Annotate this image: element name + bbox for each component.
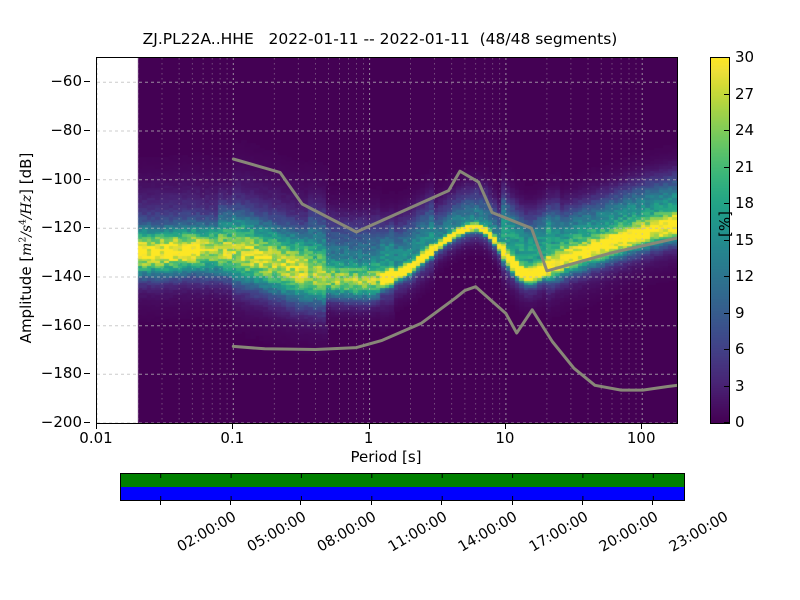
colorbar-tick-label: 9 [735, 304, 745, 322]
y-tick-label: −200 [41, 413, 82, 431]
colorbar-label: [%] [716, 157, 734, 237]
y-tick-mark [84, 130, 90, 131]
x-tick-label: 10 [495, 429, 514, 447]
coverage-tick-mark [230, 501, 231, 505]
coverage-tick-label: 23:00:00 [667, 509, 731, 555]
y-tick-mark [84, 179, 90, 180]
y-tick-label: −80 [50, 121, 82, 139]
x-tick-label: 100 [627, 429, 656, 447]
y-tick-label: −60 [50, 72, 82, 90]
coverage-tick-mark [582, 501, 583, 505]
x-tick-mark [96, 423, 97, 429]
colorbar-tick-mark [724, 276, 730, 277]
y-tick-mark [84, 325, 90, 326]
y-tick-label: −120 [41, 218, 82, 236]
colorbar-tick-mark [724, 57, 730, 58]
coverage-tick-mark [371, 501, 372, 505]
colorbar-tick-mark [724, 240, 730, 241]
x-axis-label: Period [s] [96, 448, 676, 466]
y-axis-units: m2/s4/Hz [19, 195, 35, 256]
coverage-tick-mark [160, 501, 161, 505]
colorbar-tick-mark [724, 386, 730, 387]
y-tick-mark [84, 422, 90, 423]
y-axis-label: Amplitude [m2/s4/Hz] [dB] [17, 83, 35, 413]
y-axis-label-prefix: Amplitude [ [17, 256, 35, 344]
coverage-tick-mark [300, 501, 301, 505]
colorbar-tick-label: 6 [735, 340, 745, 358]
coverage-tick-label: 20:00:00 [597, 509, 661, 555]
y-tick-label: −140 [41, 267, 82, 285]
colorbar-tick-mark [724, 94, 730, 95]
x-axis: 0.010.1110100 [96, 423, 676, 449]
colorbar-tick-label: 18 [735, 194, 754, 212]
psd-plot-area[interactable] [96, 57, 678, 424]
coverage-tick-label: 14:00:00 [456, 509, 520, 555]
coverage-tick-label: 11:00:00 [386, 509, 450, 555]
coverage-tick-mark [441, 501, 442, 505]
y-tick-mark [84, 276, 90, 277]
coverage-tick-label: 05:00:00 [245, 509, 309, 555]
data-coverage-bar[interactable] [120, 473, 685, 501]
coverage-segments [121, 474, 684, 500]
colorbar-tick-mark [724, 422, 730, 423]
coverage-tick-mark [512, 501, 513, 505]
x-tick-label: 0.1 [220, 429, 244, 447]
colorbar-ticks: 302724211815129630 [710, 57, 780, 422]
y-tick-label: −100 [41, 170, 82, 188]
colorbar-tick-mark [724, 313, 730, 314]
coverage-tick-label: 02:00:00 [174, 509, 238, 555]
colorbar-tick-label: 24 [735, 121, 754, 139]
x-tick-mark [505, 423, 506, 429]
colorbar-tick-label: 3 [735, 377, 745, 395]
coverage-tick-label: 08:00:00 [315, 509, 379, 555]
colorbar-tick-label: 21 [735, 158, 754, 176]
x-tick-mark [641, 423, 642, 429]
colorbar-tick-label: 30 [735, 48, 754, 66]
coverage-tick-label: 17:00:00 [526, 509, 590, 555]
colorbar-tick-mark [724, 349, 730, 350]
x-tick-mark [369, 423, 370, 429]
coverage-tick-mark [652, 501, 653, 505]
y-tick-mark [84, 81, 90, 82]
y-tick-label: −160 [41, 316, 82, 334]
colorbar-tick-label: 12 [735, 267, 754, 285]
y-axis: −60−80−100−120−140−160−180−200 [0, 57, 90, 422]
page-title: ZJ.PL22A..HHE 2022-01-11 -- 2022-01-11 (… [0, 30, 760, 48]
colorbar-tick-label: 0 [735, 413, 745, 431]
colorbar-tick-label: 27 [735, 85, 754, 103]
y-axis-label-suffix: ] [dB] [17, 153, 35, 195]
y-tick-mark [84, 373, 90, 374]
coverage-time-axis: 02:00:0005:00:0008:00:0011:00:0014:00:00… [120, 501, 683, 571]
psd-histogram-image [97, 58, 677, 423]
colorbar-tick-mark [724, 130, 730, 131]
x-tick-label: 0.01 [79, 429, 112, 447]
colorbar-tick-label: 15 [735, 231, 754, 249]
y-tick-mark [84, 227, 90, 228]
x-tick-label: 1 [364, 429, 374, 447]
x-tick-mark [232, 423, 233, 429]
y-tick-label: −180 [41, 364, 82, 382]
